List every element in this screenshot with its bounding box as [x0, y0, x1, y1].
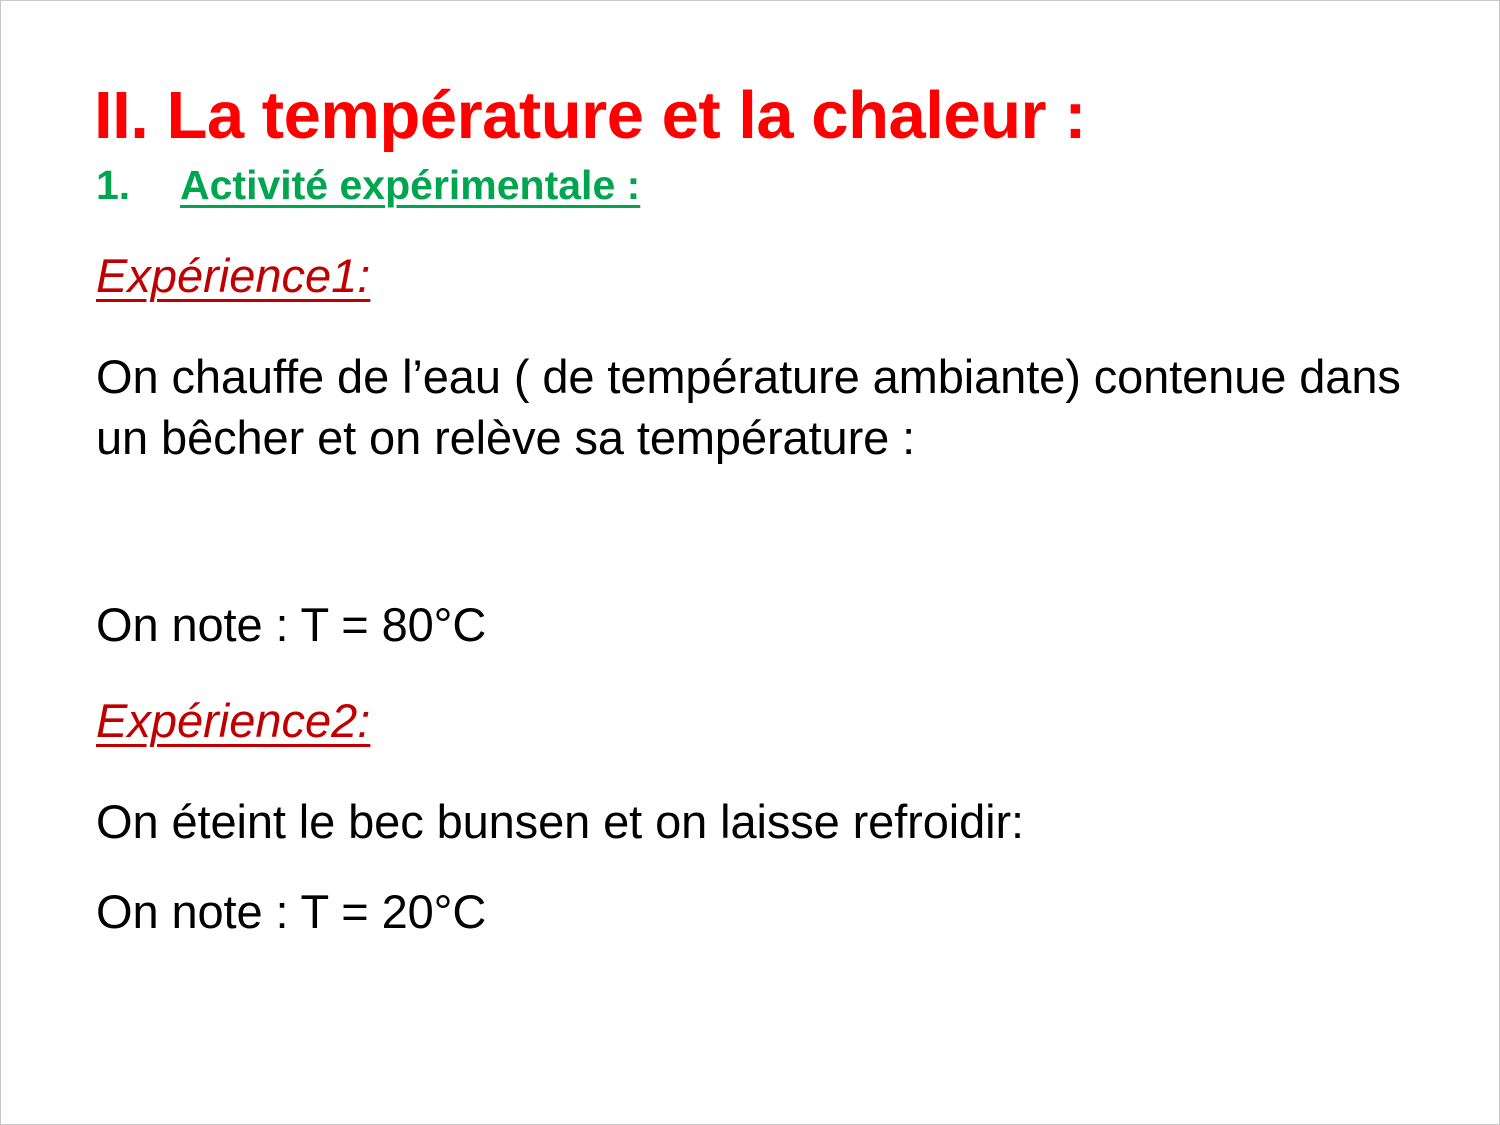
section-label: Activité expérimentale :: [180, 161, 640, 210]
section-number: 1.: [96, 161, 180, 210]
slide-content-area: II. La température et la chaleur : 1. Ac…: [94, 1, 1414, 1125]
experiment-1-note: On note : T = 80°C: [96, 594, 486, 655]
presentation-slide: II. La température et la chaleur : 1. Ac…: [0, 0, 1500, 1125]
experiment-2-note: On note : T = 20°C: [96, 881, 486, 942]
experiment-2-body: On éteint le bec bunsen et on laisse ref…: [96, 791, 1024, 852]
page-title: II. La température et la chaleur :: [94, 80, 1414, 152]
section-heading: 1. Activité expérimentale :: [96, 161, 640, 210]
experiment-2-heading: Expérience2:: [96, 694, 370, 748]
experiment-1-body: On chauffe de l’eau ( de température amb…: [96, 346, 1406, 468]
experiment-1-heading: Expérience1:: [96, 249, 370, 303]
